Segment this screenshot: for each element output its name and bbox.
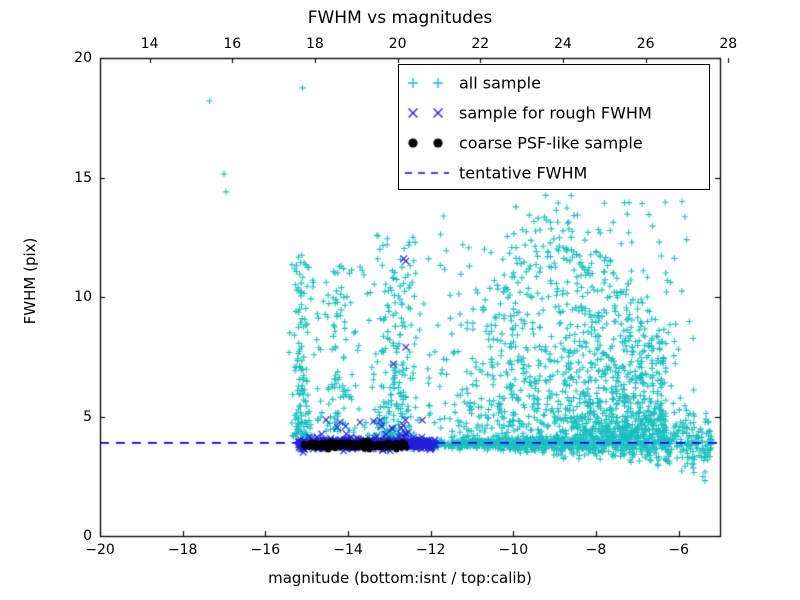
legend-item-label: coarse PSF-like sample (459, 134, 643, 153)
x-axis-top-tick-label: 16 (223, 36, 241, 52)
y-axis-tick-label: 15 (74, 170, 92, 186)
x-axis-label: magnitude (bottom:isnt / top:calib) (0, 569, 800, 587)
x-axis-top-tick-label: 24 (554, 36, 572, 52)
x-axis-bottom-tick-label: −16 (251, 542, 281, 558)
y-axis-tick-label: 5 (83, 409, 92, 425)
legend-marker-dashed-line-icon (399, 158, 459, 188)
legend-marker-x-icon (399, 98, 459, 128)
y-axis-tick-label: 10 (74, 289, 92, 305)
x-axis-bottom-tick-label: −18 (168, 542, 198, 558)
x-axis-top-tick-label: 14 (141, 36, 159, 52)
legend-item-label: all sample (459, 74, 541, 93)
x-axis-top-tick-label: 26 (637, 36, 655, 52)
x-axis-bottom-tick-label: −8 (586, 542, 607, 558)
page-title: FWHM vs magnitudes (0, 8, 800, 28)
legend-item[interactable]: all sample (399, 68, 709, 98)
x-axis-bottom-tick-label: −14 (333, 542, 363, 558)
legend-item-label: tentative FWHM (459, 164, 587, 183)
x-axis-top-tick-label: 20 (389, 36, 407, 52)
x-axis-top-tick-label: 28 (719, 36, 737, 52)
y-axis-tick-label: 20 (74, 50, 92, 66)
x-axis-bottom-tick-label: −10 (499, 542, 529, 558)
x-axis-top-tick-label: 18 (306, 36, 324, 52)
x-axis-bottom-tick-label: −20 (85, 542, 115, 558)
x-axis-bottom-tick-label: −6 (668, 542, 689, 558)
legend: all samplesample for rough FWHMcoarse PS… (398, 64, 710, 190)
legend-item[interactable]: sample for rough FWHM (399, 98, 709, 128)
legend-marker-dot-icon (399, 128, 459, 158)
y-axis-label: FWHM (pix) (21, 191, 39, 371)
legend-item[interactable]: tentative FWHM (399, 158, 709, 188)
legend-item-label: sample for rough FWHM (459, 104, 652, 123)
y-axis-tick-label: 0 (83, 528, 92, 544)
figure-canvas-container: FWHM vs magnitudes magnitude (bottom:isn… (0, 0, 800, 600)
x-axis-bottom-tick-label: −12 (416, 542, 446, 558)
legend-item[interactable]: coarse PSF-like sample (399, 128, 709, 158)
x-axis-top-tick-label: 22 (471, 36, 489, 52)
legend-marker-plus-icon (399, 68, 459, 98)
